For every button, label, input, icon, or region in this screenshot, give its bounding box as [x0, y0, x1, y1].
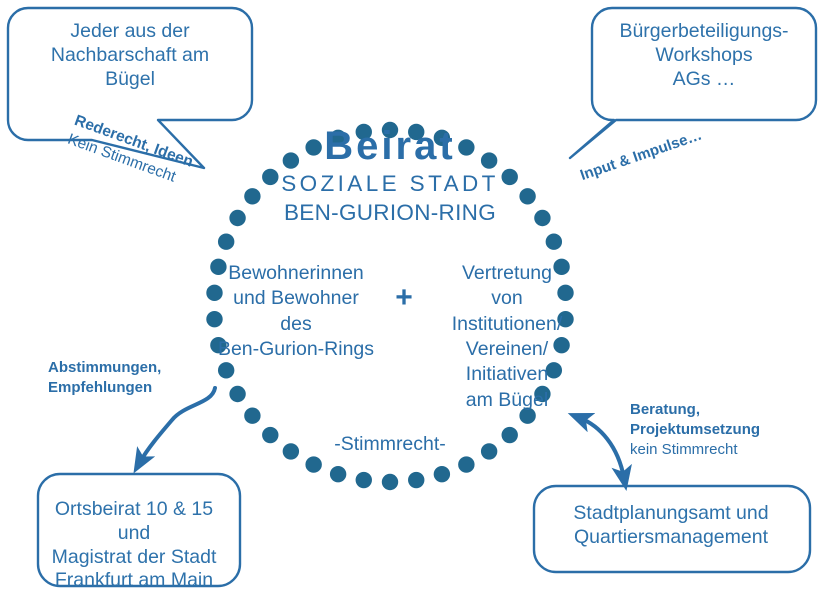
- center-right-line-4: Vereinen/: [424, 337, 590, 362]
- center-right-line-5: Initiativen: [424, 362, 590, 387]
- center-right-line-2: von: [424, 286, 590, 311]
- center-left-line-4: Ben-Gurion-Rings: [202, 337, 390, 362]
- callout-tr-line-1: Bürgerbeteiligungs-: [604, 20, 804, 44]
- ring-dot: [356, 472, 372, 488]
- center-heading: Beirat: [160, 126, 620, 168]
- ring-dot: [218, 362, 234, 378]
- center-footnote: -Stimmrecht-: [300, 432, 480, 457]
- callout-top-left-text: Jeder aus der Nachbarschaft am Bügel: [22, 20, 238, 91]
- center-left-line-2: und Bewohner: [202, 286, 390, 311]
- ring-dot: [244, 408, 260, 424]
- callout-tl-line-1: Jeder aus der: [22, 20, 238, 44]
- connector-label-br-plain: kein Stimmrecht: [630, 440, 760, 460]
- ring-dot: [330, 466, 346, 482]
- connector-label-bottom-left: Abstimmungen, Empfehlungen: [48, 358, 161, 399]
- ring-dot: [546, 234, 562, 250]
- ring-dot: [218, 234, 234, 250]
- ring-dot: [283, 443, 299, 459]
- ring-dot: [408, 472, 424, 488]
- callout-bl-line-4: Frankfurt am Main: [34, 569, 234, 593]
- center-left-line-3: des: [202, 312, 390, 337]
- arrow-stadtplanungsamt: [580, 418, 624, 478]
- ring-dot: [481, 443, 497, 459]
- plus-sign: +: [386, 278, 422, 317]
- diagram-canvas: Jeder aus der Nachbarschaft am Bügel Bür…: [0, 0, 820, 600]
- ring-dot: [262, 427, 278, 443]
- ring-dot: [458, 456, 474, 472]
- callout-br-line-2: Quartiersmanagement: [534, 526, 808, 550]
- callout-tr-line-2: Workshops: [604, 44, 804, 68]
- callout-top-right-text: Bürgerbeteiligungs- Workshops AGs …: [604, 20, 804, 91]
- ring-dot: [305, 456, 321, 472]
- ring-dot: [229, 386, 245, 402]
- center-left-line-1: Bewohnerinnen: [202, 261, 390, 286]
- ring-dot: [434, 466, 450, 482]
- callout-bottom-left-text: Ortsbeirat 10 & 15 und Magistrat der Sta…: [34, 498, 234, 593]
- arrow-to-ortsbeirat: [140, 388, 215, 462]
- callout-bottom-right-text: Stadtplanungsamt und Quartiersmanagement: [534, 502, 808, 550]
- ring-dot: [382, 474, 398, 490]
- center-title-block: Beirat SOZIALE STADT BEN-GURION-RING: [160, 126, 620, 226]
- connector-label-bl-bold-2: Empfehlungen: [48, 378, 161, 398]
- center-right-line-1: Vertretung: [424, 261, 590, 286]
- callout-tl-line-3: Bügel: [22, 68, 238, 92]
- callout-bl-line-3: Magistrat der Stadt: [34, 546, 234, 570]
- connector-label-bottom-right: Beratung, Projektumsetzung kein Stimmrec…: [630, 400, 760, 460]
- center-right-column: Vertretung von Institutionen/ Vereinen/ …: [424, 261, 590, 413]
- callout-br-line-1: Stadtplanungsamt und: [534, 502, 808, 526]
- center-right-line-3: Institutionen/: [424, 312, 590, 337]
- connector-label-br-bold-1: Beratung,: [630, 400, 760, 420]
- callout-bl-line-2: und: [34, 522, 234, 546]
- callout-tr-line-3: AGs …: [604, 68, 804, 92]
- ring-dot: [502, 427, 518, 443]
- center-subheading-2: BEN-GURION-RING: [160, 199, 620, 226]
- callout-bl-line-1: Ortsbeirat 10 & 15: [34, 498, 234, 522]
- center-left-column: Bewohnerinnen und Bewohner des Ben-Gurio…: [202, 261, 390, 362]
- center-right-line-6: am Bügel: [424, 388, 590, 413]
- connector-label-bl-bold-1: Abstimmungen,: [48, 358, 161, 378]
- center-subheading: SOZIALE STADT: [160, 170, 620, 198]
- connector-label-br-bold-2: Projektumsetzung: [630, 420, 760, 440]
- callout-tl-line-2: Nachbarschaft am: [22, 44, 238, 68]
